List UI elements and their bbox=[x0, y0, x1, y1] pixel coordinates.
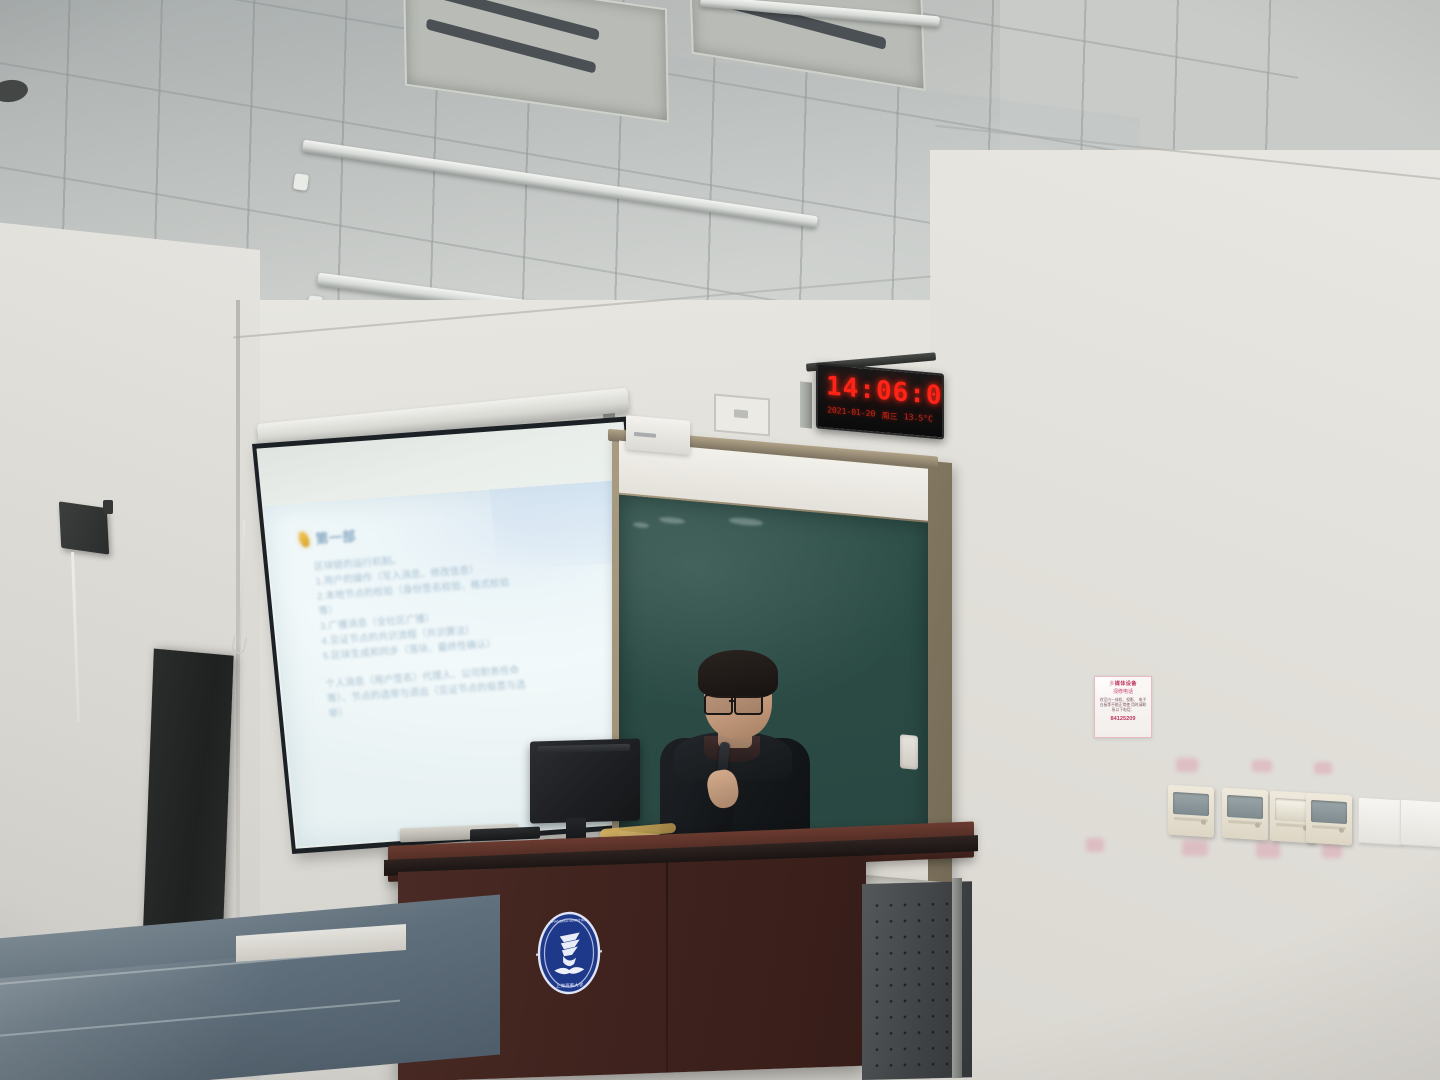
clock-temperature: 13.5°C bbox=[904, 412, 933, 426]
lectern-perforation bbox=[870, 896, 964, 1072]
clock-date: 2021-01-20 bbox=[827, 405, 875, 420]
chalk-smudge bbox=[633, 522, 649, 528]
switch-indicator-icon bbox=[1255, 823, 1260, 828]
right-wall bbox=[930, 150, 1440, 1080]
control-box-label bbox=[634, 432, 656, 438]
switch-rocker[interactable] bbox=[1227, 795, 1263, 819]
glasses-icon bbox=[704, 694, 733, 715]
notice-phone-number: 84125209 bbox=[1098, 716, 1148, 722]
desktop-monitor[interactable] bbox=[530, 738, 640, 823]
glasses-bridge bbox=[729, 700, 736, 702]
switch-indicator-icon bbox=[1339, 828, 1344, 833]
wall-smudge bbox=[1176, 758, 1198, 772]
slide-heading: 第一部 bbox=[315, 526, 357, 548]
wall-switch-panel[interactable] bbox=[1168, 785, 1214, 838]
wall-smudge bbox=[1086, 838, 1104, 852]
monitor-vent-strip bbox=[538, 744, 630, 754]
clock-time-display: 14:06:07 bbox=[826, 371, 934, 410]
projector-control-box[interactable] bbox=[626, 415, 690, 455]
university-emblem: SHANGHAI MARITIME 上海海事大学 bbox=[529, 904, 609, 1002]
wall-switch-panel[interactable] bbox=[1222, 788, 1268, 841]
maintenance-notice-sign: 多媒体设备 报修电话 教室内一体机、投影、 电子白板等不能正常使 用时请联系以下… bbox=[1094, 676, 1152, 738]
lectern-rail bbox=[952, 878, 962, 1078]
wall-panel-marking bbox=[734, 409, 748, 418]
glasses-icon bbox=[734, 694, 763, 715]
chalk-smudge bbox=[659, 516, 685, 524]
lectern-panel-seam bbox=[666, 863, 668, 1073]
speaker-mount-bracket bbox=[103, 500, 113, 514]
led-wall-clock: 14:06:07 2021-01-20 周三 13.5°C bbox=[816, 362, 944, 439]
blank-wall-plate bbox=[1400, 799, 1440, 848]
wall-smudge bbox=[1322, 844, 1342, 858]
dark-display-panel bbox=[142, 648, 233, 955]
wall-switch-panel[interactable] bbox=[1306, 793, 1352, 846]
wall-access-panel bbox=[714, 394, 770, 437]
presenter-hair bbox=[698, 650, 778, 698]
wall-vent bbox=[900, 734, 918, 770]
wall-smudge bbox=[1252, 760, 1272, 772]
chalk-smudge bbox=[729, 517, 763, 527]
blank-wall-plate bbox=[1358, 797, 1402, 846]
clock-support-arm bbox=[800, 381, 812, 428]
wall-smudge bbox=[1182, 840, 1208, 856]
switch-rocker[interactable] bbox=[1173, 792, 1209, 816]
wall-speaker bbox=[59, 501, 109, 554]
wall-smudge bbox=[1314, 762, 1332, 774]
switch-indicator-icon bbox=[1201, 820, 1206, 825]
fluorescent-light-cap bbox=[293, 173, 309, 191]
wall-smudge bbox=[1256, 842, 1280, 858]
clock-weekday: 周三 bbox=[882, 410, 898, 422]
gold-diamond-bullet-icon bbox=[297, 530, 311, 548]
classroom-photo: 第一部 区块链的运行机制。 1.用户的操作（写入消息、修改信息） 2.本地节点的… bbox=[0, 0, 1440, 1080]
switch-rocker[interactable] bbox=[1311, 800, 1347, 824]
